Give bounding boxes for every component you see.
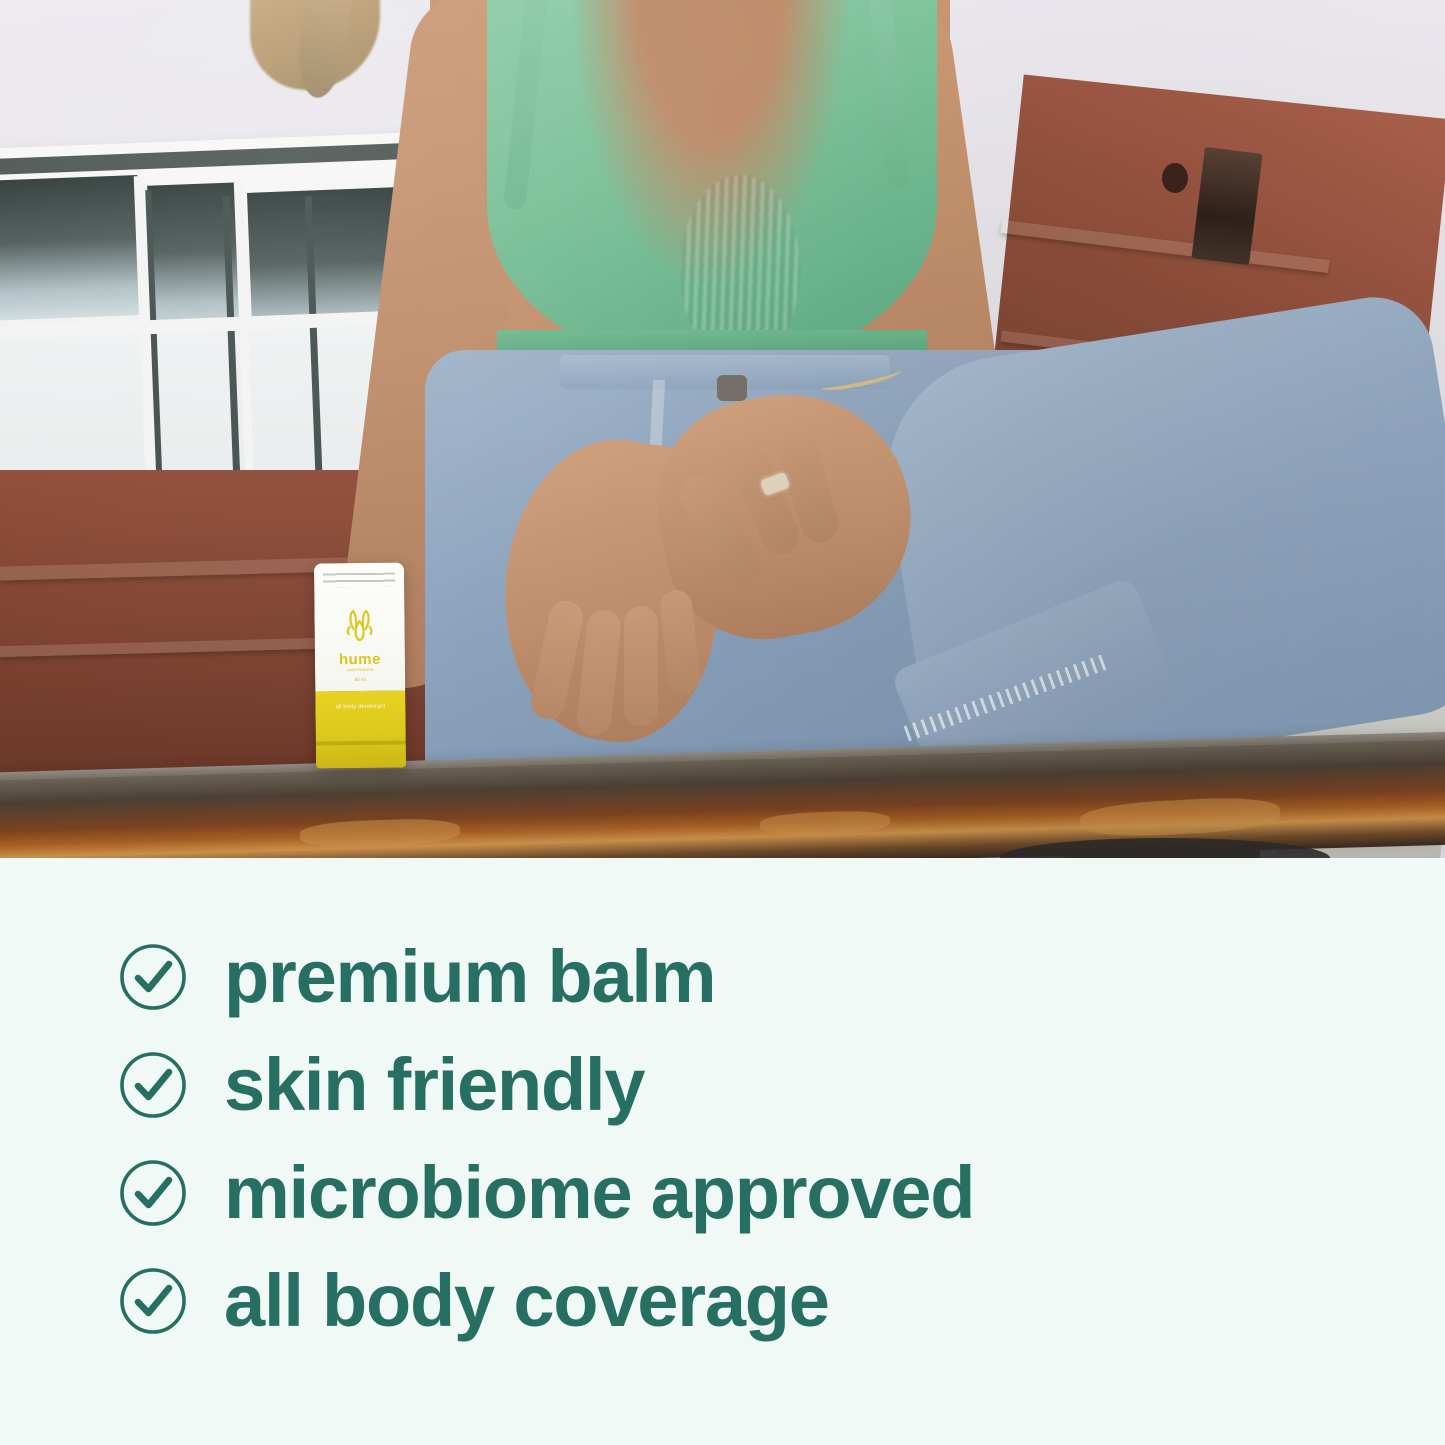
jeans-button: [717, 375, 747, 401]
check-circle-icon: [118, 1266, 188, 1336]
product-marketing-image: hume supernatural 50 ml all body deodora…: [0, 0, 1445, 1445]
rabbit-logo-icon: [338, 607, 380, 649]
benefits-panel: premium balm skin friendly: [0, 858, 1445, 1445]
tube-description: all body deodorant: [315, 703, 405, 712]
benefit-label: all body coverage: [224, 1264, 829, 1338]
product-tube: hume supernatural 50 ml all body deodora…: [314, 563, 406, 769]
benefit-item-microbiome-approved: microbiome approved: [118, 1156, 1368, 1230]
benefit-label: microbiome approved: [224, 1156, 974, 1230]
benefit-item-premium-balm: premium balm: [118, 940, 1368, 1014]
camper-window-left: [0, 175, 143, 321]
benefit-item-all-body-coverage: all body coverage: [118, 1264, 1368, 1338]
check-circle-icon: [118, 1050, 188, 1120]
tube-size: 50 ml: [315, 677, 405, 683]
finger: [624, 606, 658, 726]
benefit-label: premium balm: [224, 940, 715, 1014]
check-circle-icon: [118, 1158, 188, 1228]
tailgate-bolt-hole: [1162, 163, 1188, 193]
check-circle-icon: [118, 942, 188, 1012]
benefit-item-skin-friendly: skin friendly: [118, 1048, 1368, 1122]
tube-microcopy-text: [323, 573, 395, 588]
benefit-label: skin friendly: [224, 1048, 644, 1122]
tube-tagline: supernatural: [315, 667, 405, 673]
benefits-list: premium balm skin friendly: [118, 940, 1368, 1338]
lifestyle-product-photo: hume supernatural 50 ml all body deodora…: [0, 0, 1445, 858]
